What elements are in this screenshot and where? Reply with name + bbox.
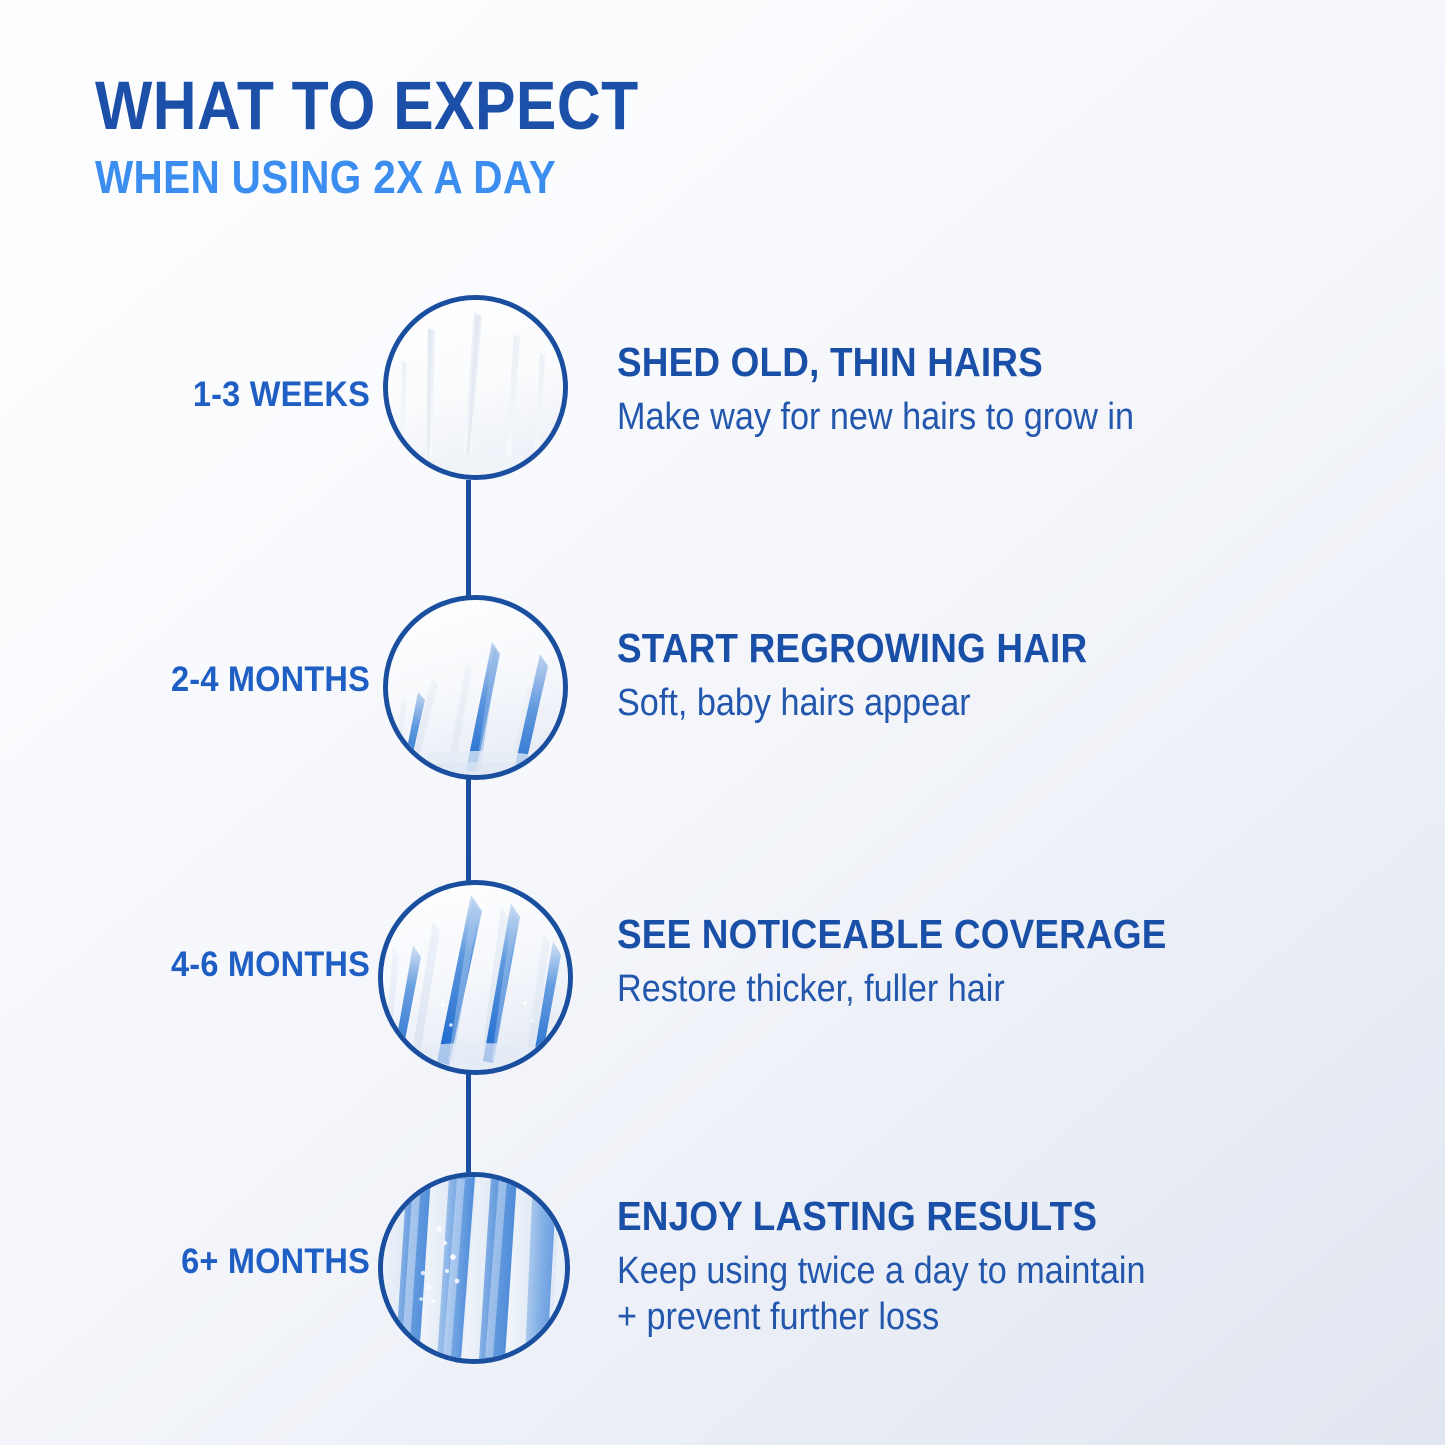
step-2-body: Soft, baby hairs appear bbox=[617, 680, 1301, 726]
hair-follicle-full-thick-icon bbox=[383, 1177, 565, 1359]
step-2-text: START REGROWING HAIR Soft, baby hairs ap… bbox=[617, 627, 1377, 726]
step-4-body: Keep using twice a day to maintain + pre… bbox=[617, 1248, 1301, 1341]
step-1-text: SHED OLD, THIN HAIRS Make way for new ha… bbox=[617, 341, 1377, 440]
step-3-text: SEE NOTICEABLE COVERAGE Restore thicker,… bbox=[617, 913, 1377, 1012]
step-3-heading: SEE NOTICEABLE COVERAGE bbox=[617, 913, 1301, 956]
infographic-canvas: WHAT TO EXPECT WHEN USING 2X A DAY 1-3 W… bbox=[0, 0, 1445, 1445]
hair-follicle-new-growth-icon bbox=[388, 600, 563, 775]
step-4-image-circle bbox=[378, 1172, 570, 1364]
step-4-text: ENJOY LASTING RESULTS Keep using twice a… bbox=[617, 1195, 1377, 1341]
step-1-duration-label: 1-3 WEEKS bbox=[72, 375, 370, 415]
timeline-connector-2 bbox=[466, 772, 471, 887]
step-1-image-circle bbox=[383, 295, 568, 480]
step-4-duration-label: 6+ MONTHS bbox=[72, 1242, 370, 1282]
step-2-image-circle bbox=[383, 595, 568, 780]
timeline-connector-3 bbox=[466, 1062, 471, 1177]
step-4-body-line-1: Keep using twice a day to maintain bbox=[617, 1250, 1146, 1292]
step-2-duration-label: 2-4 MONTHS bbox=[72, 660, 370, 700]
step-3-duration-label: 4-6 MONTHS bbox=[72, 945, 370, 985]
step-3-body: Restore thicker, fuller hair bbox=[617, 966, 1301, 1012]
hair-follicle-dense-growth-icon bbox=[383, 885, 568, 1070]
step-1-body: Make way for new hairs to grow in bbox=[617, 394, 1301, 440]
timeline: 1-3 WEEKS bbox=[0, 0, 1445, 1445]
step-4-heading: ENJOY LASTING RESULTS bbox=[617, 1195, 1301, 1238]
step-3-image-circle bbox=[378, 880, 573, 1075]
step-4-body-line-2: + prevent further loss bbox=[617, 1294, 1301, 1340]
timeline-connector-1 bbox=[466, 480, 471, 600]
step-1-heading: SHED OLD, THIN HAIRS bbox=[617, 341, 1301, 384]
hair-follicle-sparse-pale-icon bbox=[388, 300, 563, 475]
step-2-heading: START REGROWING HAIR bbox=[617, 627, 1301, 670]
